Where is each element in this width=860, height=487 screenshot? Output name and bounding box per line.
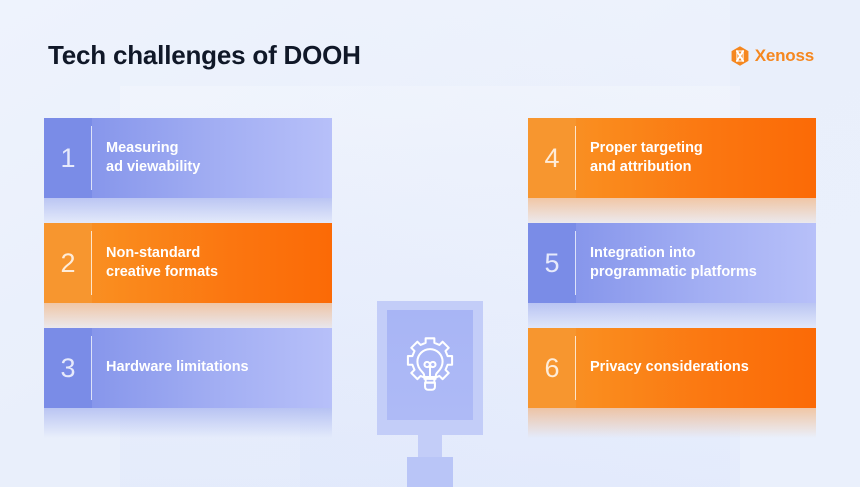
card-number-cell-6: 6 [528, 328, 576, 408]
card-label-cell-3: Hardware limitations [92, 328, 332, 408]
card-number-1: 1 [60, 145, 75, 172]
logo-text: Xenoss [755, 46, 814, 66]
card-number-4: 4 [544, 145, 559, 172]
billboard-neck [418, 435, 442, 457]
card-label-4: Proper targeting and attribution [590, 139, 703, 177]
card-reflection-6 [528, 408, 816, 438]
slide-header: Tech challenges of DOOH Xenoss [0, 0, 860, 90]
card-number-5: 5 [544, 250, 559, 277]
challenge-column-right: 4 Proper targeting and attribution 5 Int… [528, 118, 816, 408]
card-label-cell-4: Proper targeting and attribution [576, 118, 816, 198]
page-title: Tech challenges of DOOH [48, 40, 361, 71]
card-number-cell-3: 3 [44, 328, 92, 408]
brand-logo: Xenoss [729, 45, 814, 67]
card-number-cell-4: 4 [528, 118, 576, 198]
card-number-3: 3 [60, 355, 75, 382]
challenge-card-2[interactable]: 2 Non-standard creative formats [44, 223, 332, 303]
card-number-2: 2 [60, 250, 75, 277]
card-label-6: Privacy considerations [590, 358, 749, 377]
card-number-cell-2: 2 [44, 223, 92, 303]
xenoss-hexagon-logo-mark [729, 45, 751, 67]
slide-canvas: Tech challenges of DOOH Xenoss [0, 0, 860, 487]
card-number-6: 6 [544, 355, 559, 382]
card-label-1: Measuring ad viewability [106, 139, 200, 177]
challenge-card-5[interactable]: 5 Integration into programmatic platform… [528, 223, 816, 303]
billboard-base [407, 457, 453, 487]
card-label-cell-1: Measuring ad viewability [92, 118, 332, 198]
card-label-cell-6: Privacy considerations [576, 328, 816, 408]
challenge-card-1[interactable]: 1 Measuring ad viewability [44, 118, 332, 198]
card-label-cell-2: Non-standard creative formats [92, 223, 332, 303]
card-reflection-3 [44, 408, 332, 438]
gear-lightbulb-icon [399, 333, 461, 395]
challenge-column-left: 1 Measuring ad viewability 2 Non-standar… [44, 118, 332, 408]
card-number-cell-5: 5 [528, 223, 576, 303]
card-number-cell-1: 1 [44, 118, 92, 198]
card-label-2: Non-standard creative formats [106, 244, 218, 282]
challenge-card-6[interactable]: 6 Privacy considerations [528, 328, 816, 408]
digital-billboard-illustration [377, 301, 483, 487]
card-label-cell-5: Integration into programmatic platforms [576, 223, 816, 303]
challenge-card-4[interactable]: 4 Proper targeting and attribution [528, 118, 816, 198]
card-label-5: Integration into programmatic platforms [590, 244, 757, 282]
challenge-card-3[interactable]: 3 Hardware limitations [44, 328, 332, 408]
card-label-3: Hardware limitations [106, 358, 249, 377]
